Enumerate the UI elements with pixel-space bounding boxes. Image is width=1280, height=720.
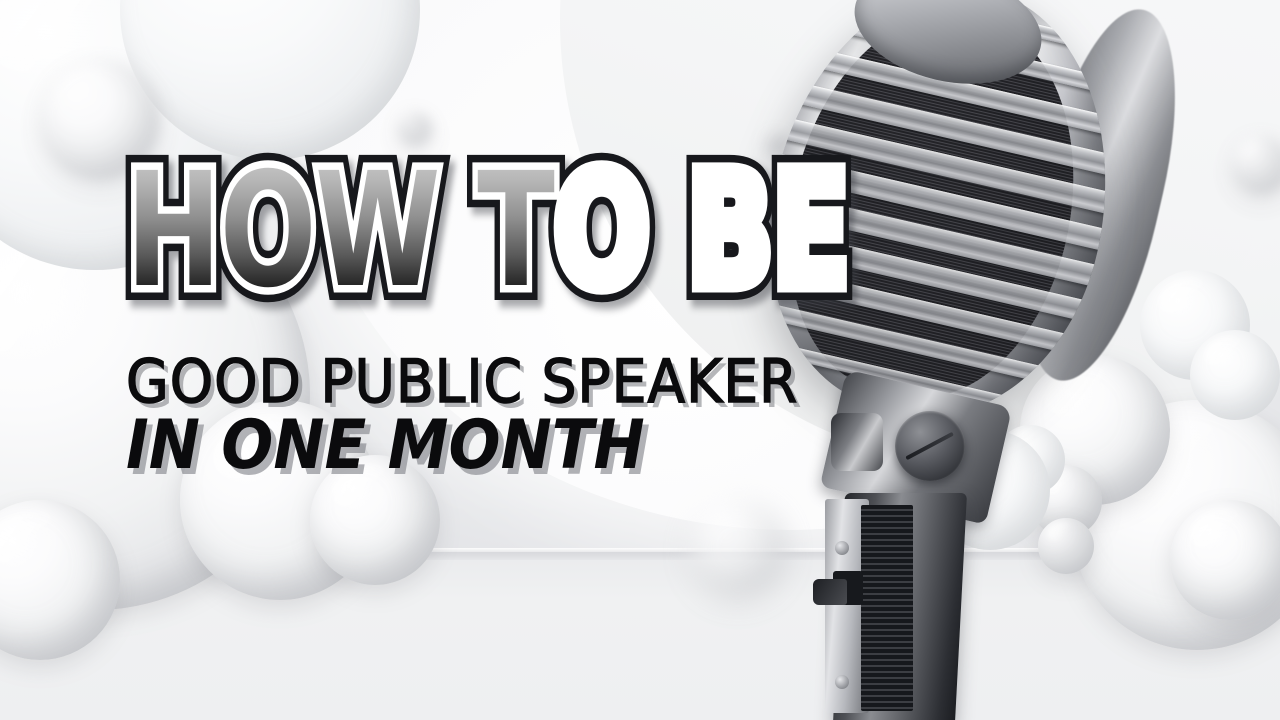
headline-wrapper: HOW TO BE HOW TO BE HOW TO BE — [126, 156, 726, 352]
microphone-stand-ribbing — [861, 505, 913, 711]
microphone-tension-knob — [895, 411, 965, 481]
page-title: HOW TO BE — [126, 156, 558, 306]
microphone-screw-bottom — [835, 675, 849, 689]
sphere-right-small — [1170, 500, 1280, 620]
thumbnail-canvas: HOW TO BE HOW TO BE HOW TO BE GOOD PUBLI… — [0, 0, 1280, 720]
sphere-right-top — [1190, 330, 1280, 420]
microphone-hinge — [831, 413, 883, 471]
microphone-screw-top — [835, 541, 849, 555]
microphone-adjustment-lever — [813, 579, 847, 605]
title-text-block: HOW TO BE HOW TO BE HOW TO BE GOOD PUBLI… — [126, 156, 726, 480]
subtitle-line-2: IN ONE MONTH — [126, 412, 666, 480]
subtitle-line-1: GOOD PUBLIC SPEAKER — [126, 352, 678, 412]
